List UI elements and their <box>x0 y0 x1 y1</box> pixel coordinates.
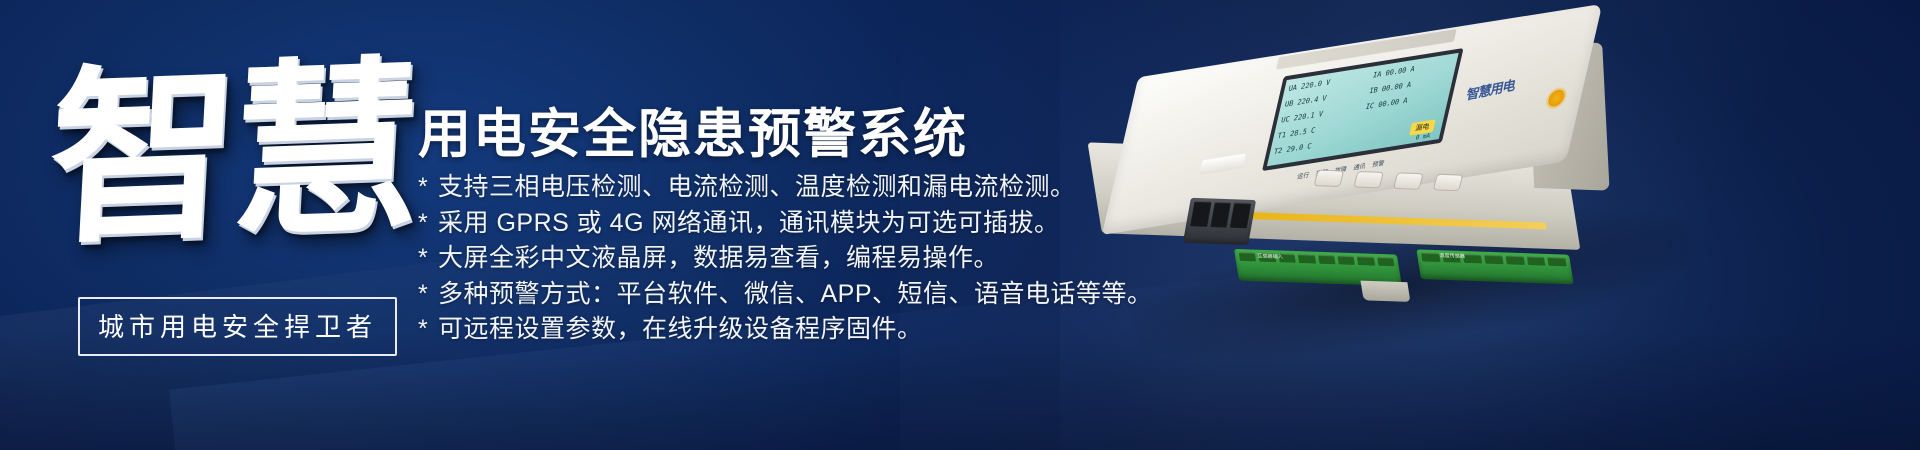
device-key <box>1353 170 1384 187</box>
bullet-marker-icon: * <box>418 279 438 311</box>
list-item-label: 采用 GPRS 或 4G 网络通讯，通讯模块为可选可插拔。 <box>438 208 1059 240</box>
terminal-pin <box>1317 255 1335 264</box>
list-item-label: 多种预警方式：平台软件、微信、APP、短信、语音电话等等。 <box>438 279 1153 311</box>
list-item: * 多种预警方式：平台软件、微信、APP、短信、语音电话等等。 <box>418 279 1138 311</box>
list-item-label: 支持三相电压检测、电流检测、温度检测和漏电流检测。 <box>438 172 1076 204</box>
tagline-badge: 城市用电安全捍卫者 <box>78 297 397 356</box>
terminal-pin <box>1505 255 1524 265</box>
feature-list: * 支持三相电压检测、电流检测、温度检测和漏电流检测。 * 采用 GPRS 或 … <box>418 172 1138 350</box>
terminal-label: 互感器输入 <box>1257 252 1284 260</box>
terminal-pin <box>1239 252 1257 261</box>
terminal-pin <box>1190 201 1212 227</box>
bullet-marker-icon: * <box>418 243 438 275</box>
calligraphy-text: 智慧 <box>45 59 419 250</box>
list-item: * 支持三相电压检测、电流检测、温度检测和漏电流检测。 <box>418 172 1138 204</box>
terminal-pin <box>1421 252 1440 262</box>
terminal-pins <box>1190 201 1252 228</box>
list-item: * 采用 GPRS 或 4G 网络通讯，通讯模块为可选可插拔。 <box>418 208 1138 240</box>
device-power-terminal <box>1183 198 1256 245</box>
terminal-pin <box>1298 254 1316 263</box>
device-key <box>1433 173 1464 190</box>
headline: 用电安全隐患预警系统 <box>418 92 968 168</box>
terminal-pin <box>1547 257 1566 267</box>
lcd-leakage-value: 0 mA <box>1415 132 1431 142</box>
tagline-badge-text: 城市用电安全捍卫者 <box>98 312 377 342</box>
terminal-label: 温度传感器 <box>1439 252 1466 260</box>
terminal-pin <box>1210 202 1232 228</box>
terminal-pin <box>1377 257 1395 266</box>
terminal-pin <box>1484 255 1503 265</box>
device-key <box>1393 172 1424 189</box>
terminal-pin <box>1463 254 1482 264</box>
list-item: * 可远程设置参数，在线升级设备程序固件。 <box>418 314 1138 346</box>
calligraphy-logo: 智慧 <box>62 22 402 287</box>
terminal-pin <box>1357 256 1375 265</box>
terminal-pin <box>1230 202 1252 228</box>
product-image: UA 220.0 V IA 00.00 A UB 220.4 V IB 00.0… <box>1066 0 1730 396</box>
promo-banner: 智慧 城市用电安全捍卫者 用电安全隐患预警系统 * 支持三相电压检测、电流检测、… <box>0 0 1920 450</box>
device-key <box>1314 169 1345 186</box>
terminal-pin <box>1337 255 1355 264</box>
list-item-label: 可远程设置参数，在线升级设备程序固件。 <box>438 314 923 346</box>
bullet-marker-icon: * <box>418 314 438 346</box>
list-item: * 大屏全彩中文液晶屏，数据易查看，编程易操作。 <box>418 243 1138 275</box>
list-item-label: 大屏全彩中文液晶屏，数据易查看，编程易操作。 <box>438 243 999 275</box>
device-din-clip <box>1360 281 1410 302</box>
bullet-marker-icon: * <box>418 172 438 204</box>
bullet-marker-icon: * <box>418 208 438 240</box>
terminal-pin <box>1526 256 1545 266</box>
